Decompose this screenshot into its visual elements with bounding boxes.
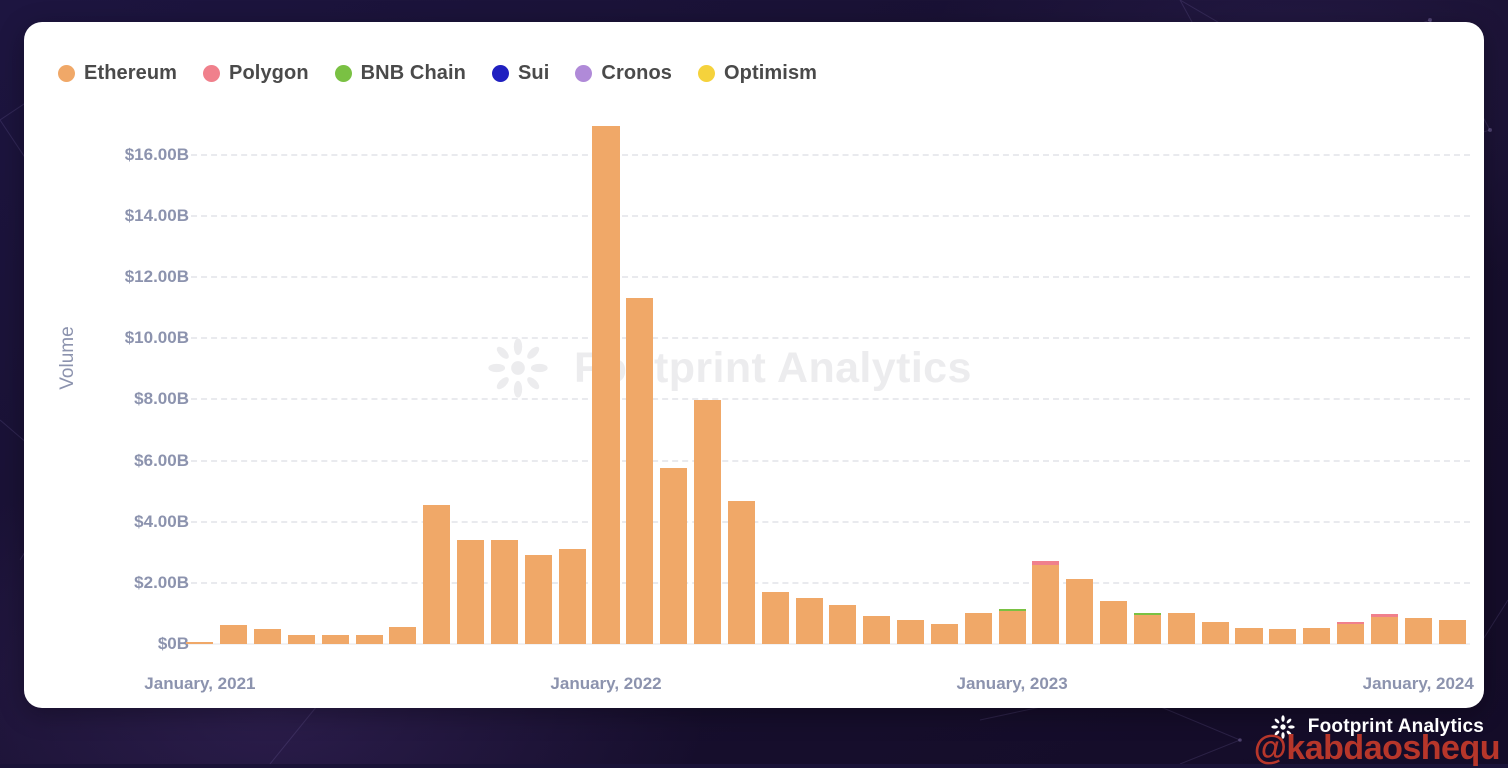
bar-column[interactable] bbox=[762, 592, 789, 644]
handle-watermark: @kabdaoshequ bbox=[1254, 729, 1500, 768]
bar-segment-ethereum bbox=[660, 468, 687, 644]
bar-column[interactable] bbox=[863, 616, 890, 644]
bar-column[interactable] bbox=[525, 555, 552, 644]
bar-segment-ethereum bbox=[965, 613, 992, 644]
bar-column[interactable] bbox=[1235, 628, 1262, 644]
bar-segment-ethereum bbox=[897, 620, 924, 644]
bar-segment-ethereum bbox=[863, 616, 890, 644]
bar-column[interactable] bbox=[322, 635, 349, 644]
bar-segment-ethereum bbox=[728, 501, 755, 644]
bar-column[interactable] bbox=[1168, 613, 1195, 644]
bar-segment-ethereum bbox=[457, 540, 484, 644]
bar-column[interactable] bbox=[694, 400, 721, 644]
bar-column[interactable] bbox=[254, 629, 281, 644]
bar-segment-ethereum bbox=[1405, 618, 1432, 644]
bar-segment-ethereum bbox=[389, 627, 416, 644]
x-axis-tick-label: January, 2023 bbox=[957, 674, 1068, 694]
x-axis-tick-label: January, 2021 bbox=[144, 674, 255, 694]
bar-segment-ethereum bbox=[559, 549, 586, 644]
bar-column[interactable] bbox=[965, 613, 992, 644]
bar-column[interactable] bbox=[728, 501, 755, 644]
x-axis-tick-label: January, 2022 bbox=[550, 674, 661, 694]
y-axis-tick-label: $16.00B bbox=[125, 145, 189, 165]
chart-card: EthereumPolygonBNB ChainSuiCronosOptimis… bbox=[24, 22, 1484, 708]
bar-column[interactable] bbox=[660, 468, 687, 644]
bar-segment-ethereum bbox=[322, 635, 349, 644]
plot-area: Volume $0B$2.00B$4.00B$6.00B$8.00B$10.00… bbox=[24, 22, 1484, 708]
bar-column[interactable] bbox=[356, 635, 383, 644]
bar-segment-ethereum bbox=[762, 592, 789, 644]
bar-column[interactable] bbox=[1134, 613, 1161, 644]
bar-segment-ethereum bbox=[525, 555, 552, 644]
bar-column[interactable] bbox=[186, 642, 213, 644]
bar-segment-ethereum bbox=[491, 540, 518, 644]
bar-column[interactable] bbox=[491, 540, 518, 644]
bar-column[interactable] bbox=[1202, 622, 1229, 644]
y-axis-tick-label: $10.00B bbox=[125, 328, 189, 348]
bar-column[interactable] bbox=[559, 549, 586, 644]
y-axis-tick-label: $8.00B bbox=[134, 389, 189, 409]
bar-column[interactable] bbox=[1066, 579, 1093, 644]
bar-segment-ethereum bbox=[220, 625, 247, 644]
bar-segment-ethereum bbox=[356, 635, 383, 644]
bar-segment-ethereum bbox=[1032, 565, 1059, 644]
bar-segment-ethereum bbox=[1269, 629, 1296, 644]
bar-segment-ethereum bbox=[1235, 628, 1262, 644]
bar-segment-ethereum bbox=[931, 624, 958, 644]
bar-column[interactable] bbox=[897, 620, 924, 644]
bar-segment-ethereum bbox=[254, 629, 281, 644]
y-axis-tick-label: $2.00B bbox=[134, 573, 189, 593]
bar-column[interactable] bbox=[829, 605, 856, 644]
x-axis-ticks: January, 2021January, 2022January, 2023J… bbox=[24, 674, 1484, 702]
bars-layer bbox=[183, 118, 1469, 644]
bar-column[interactable] bbox=[1405, 618, 1432, 644]
bar-segment-ethereum bbox=[999, 611, 1026, 644]
bar-segment-ethereum bbox=[592, 126, 619, 644]
bar-column[interactable] bbox=[1371, 614, 1398, 644]
bar-column[interactable] bbox=[1303, 628, 1330, 644]
bar-segment-ethereum bbox=[1066, 579, 1093, 644]
bar-column[interactable] bbox=[1100, 601, 1127, 644]
bar-segment-ethereum bbox=[1371, 617, 1398, 644]
bar-column[interactable] bbox=[1439, 620, 1466, 644]
y-axis-tick-label: $14.00B bbox=[125, 206, 189, 226]
bar-column[interactable] bbox=[1337, 622, 1364, 644]
bar-segment-ethereum bbox=[1202, 622, 1229, 644]
bar-column[interactable] bbox=[288, 635, 315, 644]
bar-segment-ethereum bbox=[423, 505, 450, 644]
bar-segment-ethereum bbox=[1303, 628, 1330, 644]
bar-column[interactable] bbox=[592, 126, 619, 644]
bar-segment-ethereum bbox=[796, 598, 823, 644]
bar-segment-ethereum bbox=[829, 605, 856, 644]
bar-column[interactable] bbox=[457, 540, 484, 644]
bar-segment-ethereum bbox=[694, 400, 721, 644]
bar-column[interactable] bbox=[423, 505, 450, 644]
y-axis-tick-label: $12.00B bbox=[125, 267, 189, 287]
y-axis-tick-label: $6.00B bbox=[134, 451, 189, 471]
bar-column[interactable] bbox=[1269, 629, 1296, 644]
bar-column[interactable] bbox=[796, 598, 823, 644]
bar-column[interactable] bbox=[389, 627, 416, 644]
bar-segment-ethereum bbox=[1168, 613, 1195, 644]
bar-segment-ethereum bbox=[1439, 620, 1466, 644]
bar-column[interactable] bbox=[626, 298, 653, 644]
bar-column[interactable] bbox=[220, 625, 247, 644]
y-axis-tick-label: $4.00B bbox=[134, 512, 189, 532]
bar-segment-ethereum bbox=[1100, 601, 1127, 644]
x-axis-tick-label: January, 2024 bbox=[1363, 674, 1474, 694]
bar-segment-ethereum bbox=[1134, 615, 1161, 644]
bar-column[interactable] bbox=[931, 624, 958, 644]
bar-column[interactable] bbox=[1032, 561, 1059, 644]
bar-segment-ethereum bbox=[288, 635, 315, 644]
bar-segment-ethereum bbox=[1337, 624, 1364, 644]
bar-column[interactable] bbox=[999, 609, 1026, 644]
bar-segment-ethereum bbox=[626, 298, 653, 644]
bar-segment-ethereum bbox=[186, 642, 213, 644]
